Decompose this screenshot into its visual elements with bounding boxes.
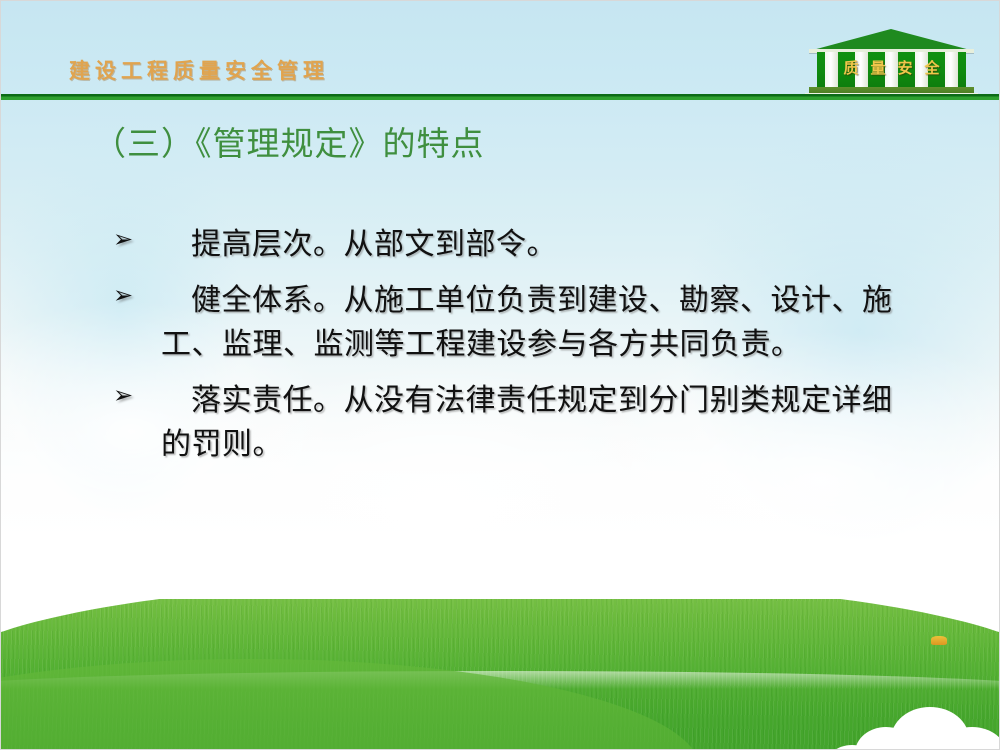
sun-speck-icon <box>931 636 947 645</box>
slide-header: 建设工程质量安全管理 质量安全 <box>1 1 999 101</box>
list-item-text: 落实责任。从没有法律责任规定到分门别类规定详细的罚则。 <box>113 379 913 467</box>
slide-canvas: 建设工程质量安全管理 质量安全 （三）《管理规定》的特点 ➢ 提高层次。从部文到… <box>0 0 1000 750</box>
arrow-bullet-icon: ➢ <box>113 227 143 251</box>
grass-hill-decoration <box>1 599 999 749</box>
page-title: （三）《管理规定》的特点 <box>93 125 485 166</box>
list-item-text: 提高层次。从部文到部令。 <box>113 223 913 267</box>
temple-pediment-icon <box>809 29 974 51</box>
list-item: ➢ 健全体系。从施工单位负责到建设、勘察、设计、施工、监理、监测等工程建设参与各… <box>113 279 913 367</box>
header-divider-rule <box>1 94 999 100</box>
quality-safety-temple-logo: 质量安全 <box>809 29 974 99</box>
list-item-text: 健全体系。从施工单位负责到建设、勘察、设计、施工、监理、监测等工程建设参与各方共… <box>113 279 913 367</box>
header-title: 建设工程质量安全管理 <box>69 61 329 82</box>
arrow-bullet-icon: ➢ <box>113 283 143 307</box>
logo-text: 质量安全 <box>817 57 966 81</box>
arrow-bullet-icon: ➢ <box>113 383 143 407</box>
list-item: ➢ 落实责任。从没有法律责任规定到分门别类规定详细的罚则。 <box>113 379 913 467</box>
list-item: ➢ 提高层次。从部文到部令。 <box>113 223 913 267</box>
bullet-list: ➢ 提高层次。从部文到部令。 ➢ 健全体系。从施工单位负责到建设、勘察、设计、施… <box>113 223 913 475</box>
